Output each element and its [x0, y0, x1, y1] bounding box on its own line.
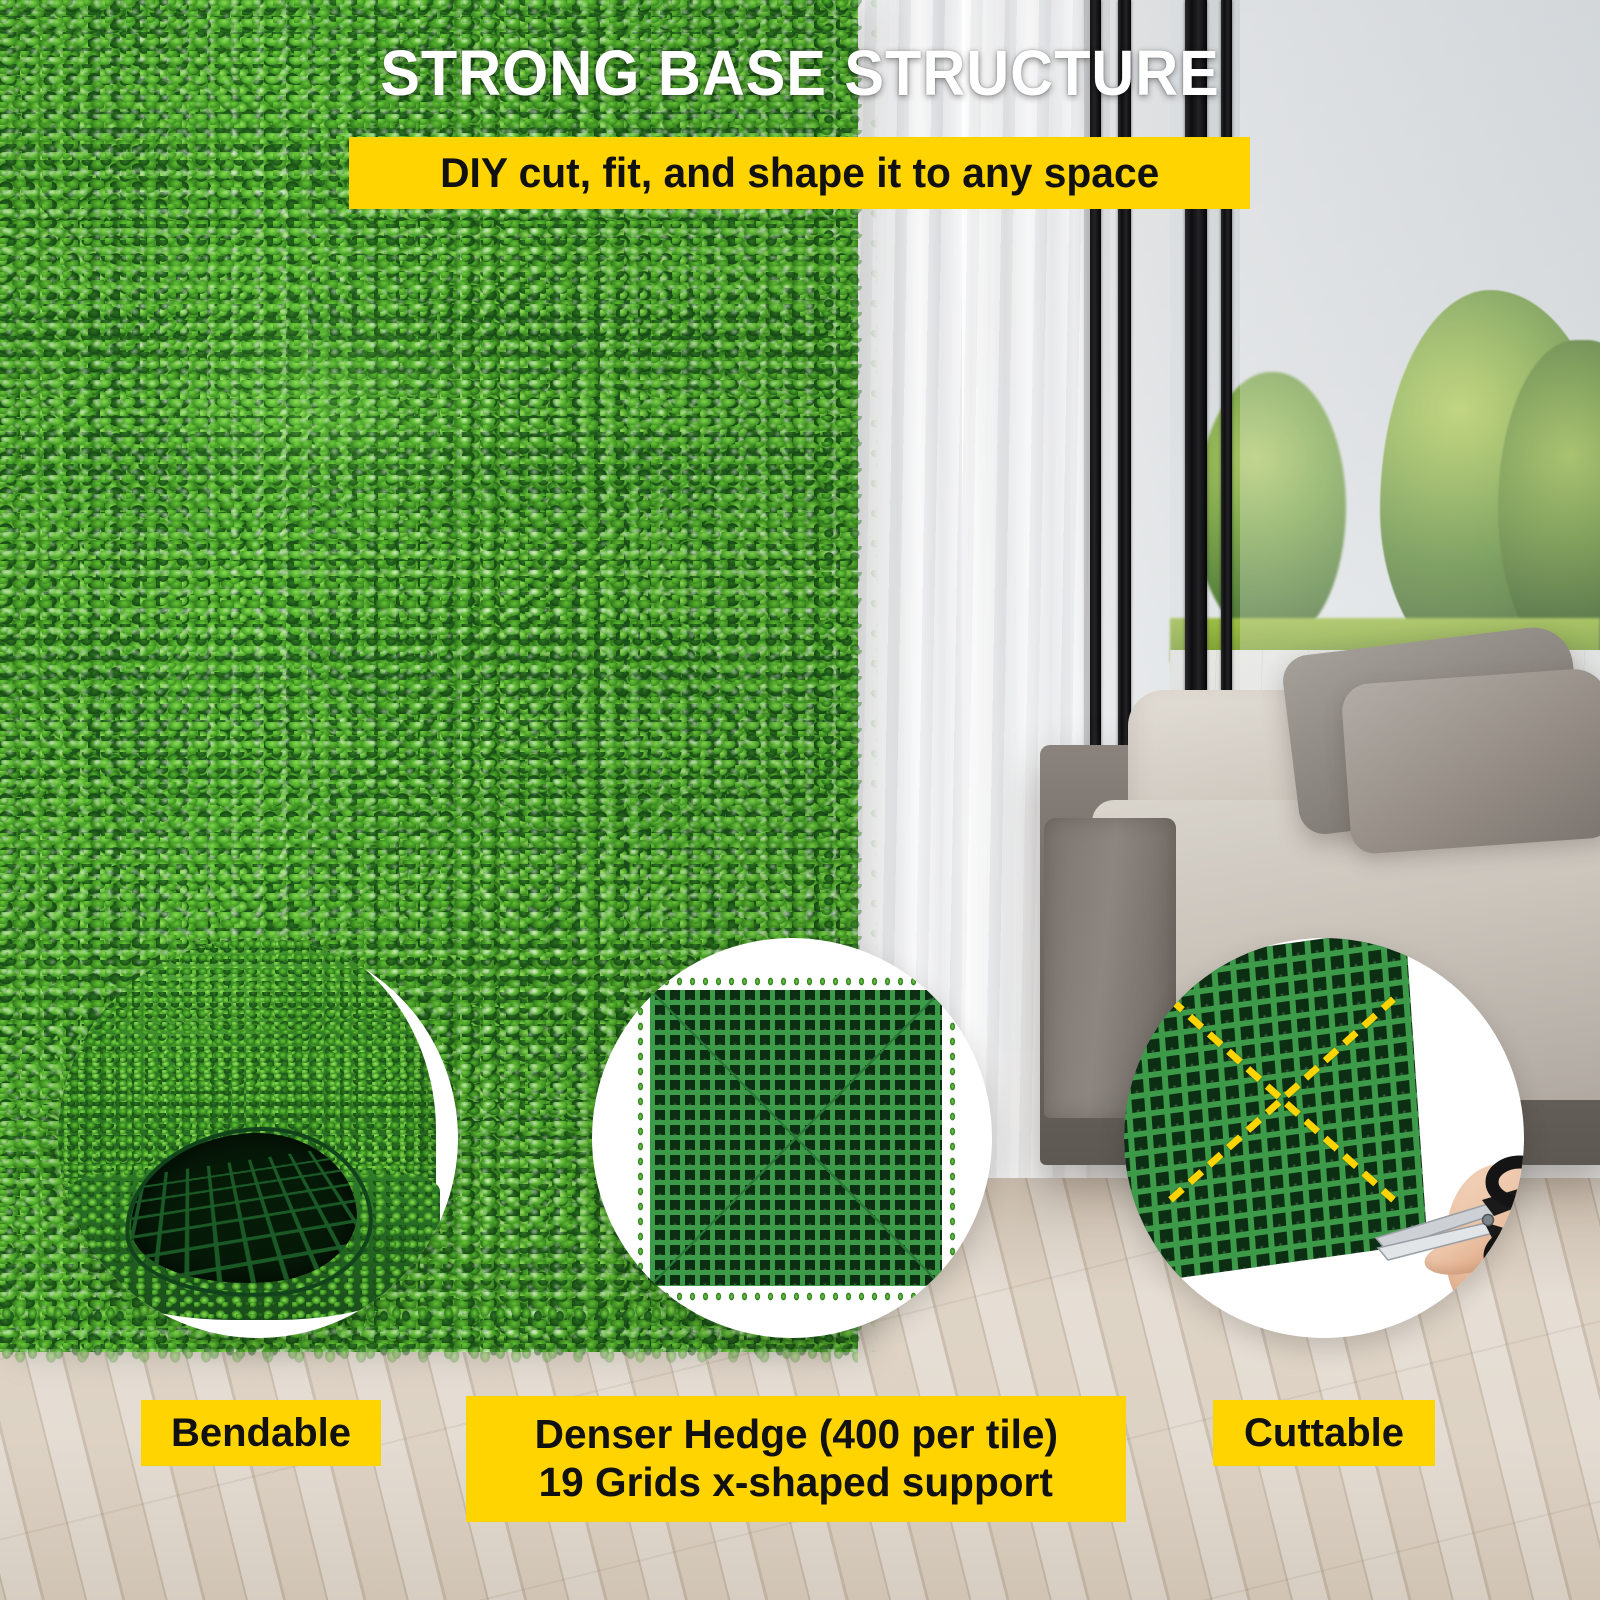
product-marketing-image: STRONG BASE STRUCTURE DIY cut, fit, and … — [0, 0, 1600, 1600]
scissors-icon — [1370, 1152, 1524, 1302]
tile-back-grid-flat — [650, 990, 942, 1286]
callout-circle-bendable — [58, 938, 458, 1338]
label-bendable: Bendable — [141, 1400, 381, 1466]
tree-outside-small — [1196, 372, 1346, 642]
sofa-pillow-front — [1340, 667, 1600, 855]
label-cuttable: Cuttable — [1213, 1400, 1435, 1466]
callout-circle-denser-hedge — [592, 938, 992, 1338]
subtitle-text: DIY cut, fit, and shape it to any space — [440, 149, 1159, 197]
page-title: STRONG BASE STRUCTURE — [56, 40, 1544, 107]
label-denser-hedge: Denser Hedge (400 per tile) 19 Grids x-s… — [466, 1396, 1126, 1522]
callout-circle-cuttable — [1124, 938, 1524, 1338]
label-denser-line1: Denser Hedge (400 per tile) — [534, 1412, 1057, 1458]
label-denser-line2: 19 Grids x-shaped support — [539, 1460, 1053, 1506]
subtitle-banner: DIY cut, fit, and shape it to any space — [349, 137, 1250, 209]
